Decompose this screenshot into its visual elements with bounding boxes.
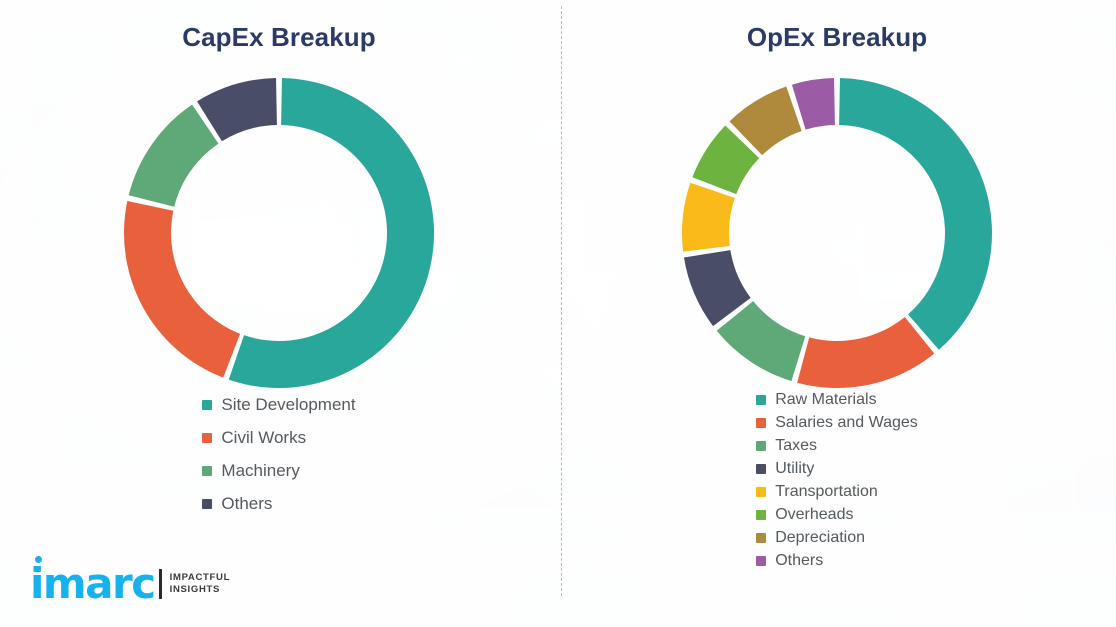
donut-slice-machinery[interactable] <box>129 105 219 207</box>
legend-item-label: Site Development <box>221 396 355 413</box>
legend-item-others[interactable]: Others <box>756 549 918 572</box>
donut-slice-raw-materials[interactable] <box>839 78 992 350</box>
legend-item-machinery[interactable]: Machinery <box>202 454 355 487</box>
legend-swatch-icon <box>756 441 766 451</box>
donut-slice-transportation[interactable] <box>682 183 735 252</box>
donut-slice-salaries-and-wages[interactable] <box>797 317 934 388</box>
legend-item-label: Machinery <box>221 462 299 479</box>
imarc-wordmark-text: imarc <box>30 559 155 608</box>
legend-swatch-icon <box>756 556 766 566</box>
legend-item-label: Salaries and Wages <box>775 415 918 431</box>
legend-swatch-icon <box>756 487 766 497</box>
legend-swatch-icon <box>202 433 212 443</box>
capex-donut-svg <box>114 68 444 398</box>
legend-item-overheads[interactable]: Overheads <box>756 503 918 526</box>
legend-item-taxes[interactable]: Taxes <box>756 434 918 457</box>
slide-canvas: CapEx Breakup Site DevelopmentCivil Work… <box>0 0 1116 627</box>
legend-swatch-icon <box>202 499 212 509</box>
legend-swatch-icon <box>756 464 766 474</box>
legend-swatch-icon <box>202 466 212 476</box>
opex-panel: OpEx Breakup Raw MaterialsSalaries and W… <box>558 0 1116 627</box>
legend-item-label: Overheads <box>775 507 853 523</box>
opex-legend: Raw MaterialsSalaries and WagesTaxesUtil… <box>558 388 1116 572</box>
logo-separator-bar <box>159 569 162 599</box>
legend-swatch-icon <box>202 400 212 410</box>
legend-item-label: Others <box>221 495 272 512</box>
capex-donut-chart <box>0 68 558 398</box>
legend-item-label: Raw Materials <box>775 392 876 408</box>
legend-item-label: Transportation <box>775 484 878 500</box>
imarc-wordmark: imarc <box>30 565 155 603</box>
legend-item-label: Civil Works <box>221 429 306 446</box>
legend-swatch-icon <box>756 510 766 520</box>
legend-swatch-icon <box>756 395 766 405</box>
legend-item-site-development[interactable]: Site Development <box>202 388 355 421</box>
capex-panel: CapEx Breakup Site DevelopmentCivil Work… <box>0 0 558 627</box>
legend-item-utility[interactable]: Utility <box>756 457 918 480</box>
legend-item-label: Others <box>775 553 823 569</box>
legend-item-label: Utility <box>775 461 814 477</box>
legend-item-raw-materials[interactable]: Raw Materials <box>756 388 918 411</box>
opex-title: OpEx Breakup <box>558 22 1116 53</box>
capex-legend: Site DevelopmentCivil WorksMachineryOthe… <box>0 388 558 520</box>
legend-item-depreciation[interactable]: Depreciation <box>756 526 918 549</box>
opex-donut-chart <box>558 68 1116 398</box>
legend-swatch-icon <box>756 418 766 428</box>
legend-item-salaries-and-wages[interactable]: Salaries and Wages <box>756 411 918 434</box>
imarc-logo[interactable]: imarc IMPACTFUL INSIGHTS <box>30 562 230 606</box>
imarc-tagline-line1: IMPACTFUL <box>170 572 230 584</box>
legend-item-others[interactable]: Others <box>202 487 355 520</box>
legend-item-civil-works[interactable]: Civil Works <box>202 421 355 454</box>
imarc-tagline: IMPACTFUL INSIGHTS <box>170 572 230 596</box>
donut-slice-civil-works[interactable] <box>124 201 240 378</box>
opex-donut-svg <box>672 68 1002 398</box>
legend-item-label: Depreciation <box>775 530 865 546</box>
imarc-dot-icon <box>35 556 42 563</box>
imarc-tagline-line2: INSIGHTS <box>170 584 230 596</box>
legend-item-label: Taxes <box>775 438 817 454</box>
legend-item-transportation[interactable]: Transportation <box>756 480 918 503</box>
capex-title: CapEx Breakup <box>0 22 558 53</box>
legend-swatch-icon <box>756 533 766 543</box>
